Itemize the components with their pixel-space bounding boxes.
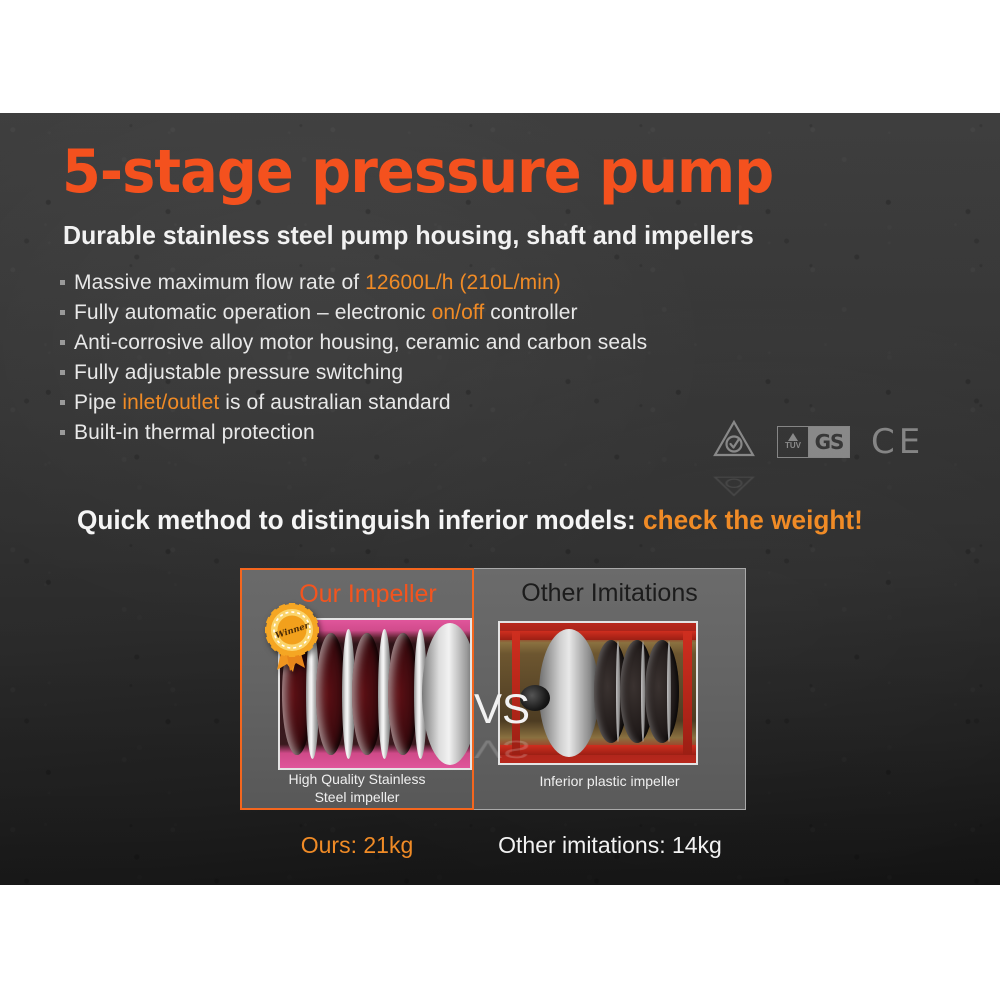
winner-badge-icon: Winner <box>259 600 325 674</box>
tuv-label: TUV <box>785 442 801 450</box>
rcm-mark <box>712 419 756 464</box>
list-item: Pipe inlet/outlet is of australian stand… <box>60 391 720 421</box>
poster-canvas: 5-stage pressure pump Durable stainless … <box>0 0 1000 1000</box>
vs-separator: VS VS <box>474 688 530 730</box>
bullet-square-icon <box>60 430 65 435</box>
list-item: Fully adjustable pressure switching <box>60 361 720 391</box>
gs-label: GS <box>809 427 849 457</box>
feature-text: Massive maximum flow rate of 12600L/h (2… <box>74 271 561 295</box>
ours-caption-line1: High Quality Stainless <box>242 771 472 789</box>
bullet-square-icon <box>60 280 65 285</box>
list-item: Massive maximum flow rate of 12600L/h (2… <box>60 271 720 301</box>
rcm-icon-reflection <box>712 475 756 497</box>
bullet-square-icon <box>60 340 65 345</box>
feature-text: Fully automatic operation – electronic o… <box>74 301 578 325</box>
feature-list: Massive maximum flow rate of 12600L/h (2… <box>60 271 720 451</box>
bullet-square-icon <box>60 310 65 315</box>
vs-label: VS <box>474 685 530 732</box>
feature-text: Fully adjustable pressure switching <box>74 361 403 385</box>
tuv-triangle-icon <box>788 433 798 441</box>
other-weight: Other imitations: 14kg <box>474 832 746 859</box>
comparison-headline: Quick method to distinguish inferior mod… <box>77 505 863 536</box>
vs-label-reflection: VS <box>474 737 530 762</box>
certification-marks: TUV GS CE <box>712 419 924 464</box>
list-item: Fully automatic operation – electronic o… <box>60 301 720 331</box>
other-caption: Inferior plastic impeller <box>474 773 745 791</box>
ours-weight: Ours: 21kg <box>240 832 474 859</box>
page-subtitle: Durable stainless steel pump housing, sh… <box>63 222 754 248</box>
list-item: Built-in thermal protection <box>60 421 720 451</box>
ours-caption: High Quality Stainless Steel impeller <box>242 771 472 806</box>
list-item: Anti-corrosive alloy motor housing, cera… <box>60 331 720 361</box>
feature-text: Built-in thermal protection <box>74 421 315 445</box>
rcm-icon <box>712 419 756 459</box>
tuv-icon: TUV <box>778 427 809 457</box>
ours-caption-line2: Steel impeller <box>242 789 472 807</box>
ce-label: CE <box>871 425 924 459</box>
page-title: 5-stage pressure pump <box>62 142 773 202</box>
tuv-gs-mark: TUV GS <box>777 426 850 458</box>
feature-text: Anti-corrosive alloy motor housing, cera… <box>74 331 647 355</box>
other-title: Other Imitations <box>474 581 745 606</box>
ce-mark: CE <box>871 425 924 459</box>
bullet-square-icon <box>60 370 65 375</box>
feature-text: Pipe inlet/outlet is of australian stand… <box>74 391 451 415</box>
bullet-square-icon <box>60 400 65 405</box>
other-caption-line1: Inferior plastic impeller <box>474 773 745 791</box>
weight-comparison: Ours: 21kg Other imitations: 14kg <box>240 832 746 872</box>
